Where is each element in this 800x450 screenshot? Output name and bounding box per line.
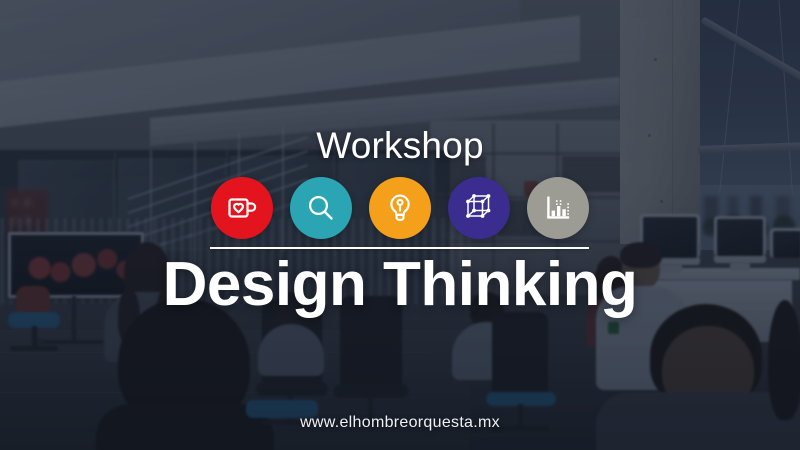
magnifier-icon (290, 177, 352, 239)
page-title: Design Thinking (0, 252, 800, 319)
slide-content: Workshop (0, 0, 800, 450)
coffee-mug-heart-icon (211, 177, 273, 239)
process-icon-row (0, 177, 800, 239)
presentation-slide: Workshop (0, 0, 800, 450)
lightbulb-icon (369, 177, 431, 239)
footer-url: www.elhombreorquesta.mx (0, 414, 800, 432)
wireframe-cube-icon (448, 177, 510, 239)
slide-eyebrow: Workshop (0, 127, 800, 164)
title-divider (210, 247, 589, 249)
bar-chart-icon (527, 177, 589, 239)
